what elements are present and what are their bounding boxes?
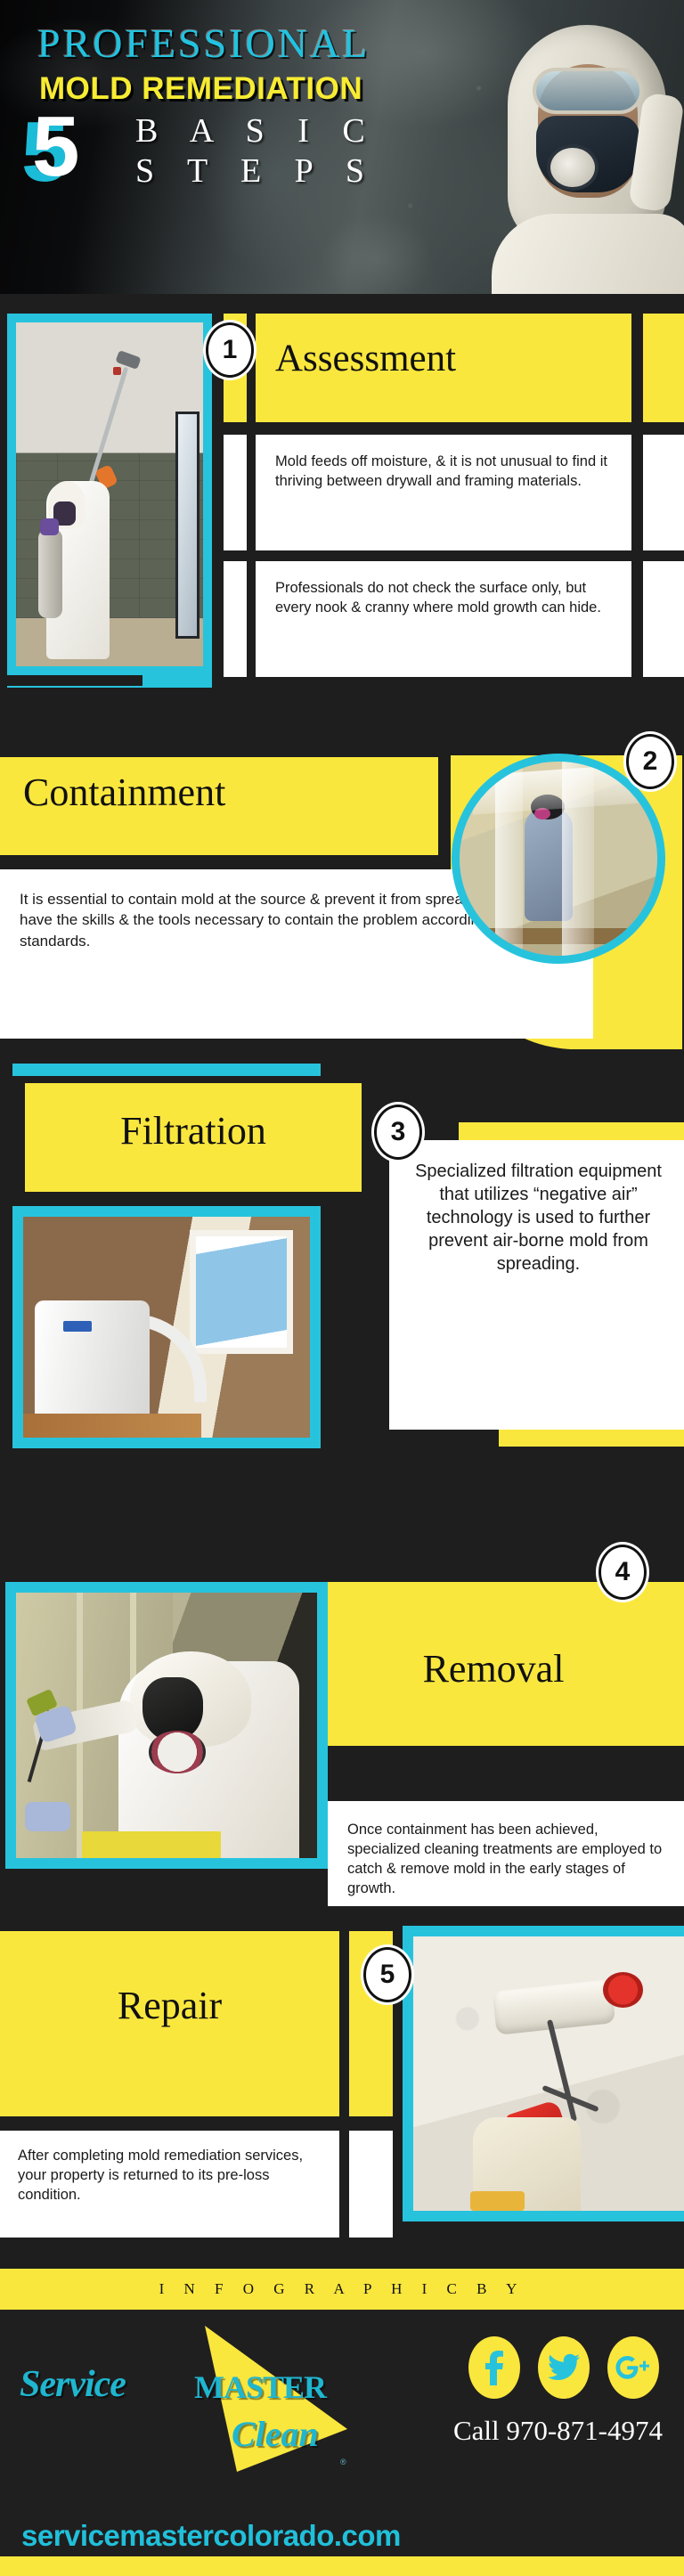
step-3-photo: [23, 1217, 310, 1438]
step-5-title-bar: Repair: [0, 1931, 339, 2116]
step-2-photo: [460, 762, 657, 956]
step-3-number-badge: 3: [374, 1105, 422, 1160]
website-url[interactable]: servicemastercolorado.com: [21, 2519, 401, 2553]
step-1-paragraph-1: Mold feeds off moisture, & it is not unu…: [256, 435, 631, 492]
step-3-filtration: Filtration Specialized filtration equipm…: [0, 1051, 684, 1505]
step-5-paragraph-accent: [349, 2131, 393, 2238]
step-3-title-bar: Filtration: [25, 1083, 362, 1192]
hero-number-five: 5 5: [27, 109, 134, 189]
google-plus-glyph: [615, 2353, 651, 2382]
step-5-paragraph-box: After completing mold remediation servic…: [0, 2131, 339, 2238]
step-1-photo: [16, 322, 203, 666]
hero-banner: PROFESSIONAL MOLD REMEDIATION 5 5 B A S …: [0, 0, 684, 294]
facebook-glyph: [481, 2350, 508, 2385]
social-links: [468, 2336, 659, 2399]
footer-bottom-bar: [0, 2556, 684, 2576]
step-1-title-bar: Assessment: [256, 314, 631, 422]
hero-line-professional: PROFESSIONAL: [37, 20, 370, 67]
step-3-paragraph-box: Specialized filtration equipment that ut…: [389, 1140, 684, 1430]
google-plus-icon[interactable]: [607, 2336, 659, 2399]
step-4-paragraph-1: Once containment has been achieved, spec…: [328, 1801, 684, 1899]
logo-text-clean: Clean: [232, 2413, 319, 2455]
infographic-credit-text: I N F O G R A P H I C B Y: [159, 2280, 525, 2298]
logo-text-master: MASTER: [194, 2368, 326, 2406]
logo-registered-mark: ®: [340, 2458, 346, 2466]
step-1-number-badge: 1: [206, 322, 254, 378]
footer: Service MASTER Clean ®: [0, 2310, 684, 2576]
step-3-paragraph-1: Specialized filtration equipment that ut…: [389, 1140, 684, 1276]
step-4-number-badge: 4: [598, 1545, 647, 1600]
step-5-number-badge: 5: [363, 1947, 411, 2002]
step-1-paragraph-2-box: Professionals do not check the surface o…: [256, 561, 631, 677]
step-2-number-badge: 2: [626, 734, 674, 789]
step-1-paragraph-1-box: Mold feeds off moisture, & it is not unu…: [256, 435, 631, 550]
servicemaster-logo[interactable]: Service MASTER Clean ®: [20, 2331, 376, 2482]
step-2-title-bar: Containment: [0, 757, 438, 855]
hero-line-basic: B A S I C: [135, 111, 378, 151]
hero-line-mold-remediation: MOLD REMEDIATION: [39, 71, 362, 107]
step-1-para-2-accent: [224, 561, 247, 677]
hero-line-steps: S T E P S: [135, 151, 377, 191]
hero-number-five-main: 5: [32, 109, 79, 185]
step-4-photo: [16, 1593, 317, 1858]
step-5-paragraph-1: After completing mold remediation servic…: [0, 2131, 339, 2205]
logo-text-service: Service: [20, 2363, 126, 2406]
step-4-title: Removal: [328, 1646, 659, 1692]
step-1-para-1-right-accent: [643, 435, 684, 550]
step-4-title-bar: Removal: [328, 1582, 684, 1746]
step-1-assessment: Assessment 1 Mold feeds off moisture, & …: [0, 294, 684, 748]
step-1-paragraph-2: Professionals do not check the surface o…: [256, 561, 631, 618]
step-1-frame-notch: [0, 675, 142, 686]
step-3-text-bottom-accent: [499, 1427, 684, 1447]
step-5-photo: [413, 1936, 684, 2211]
step-5-title: Repair: [0, 1983, 339, 2028]
logo-triangle-icon: [126, 2322, 349, 2491]
phone-number[interactable]: Call 970-871-4974: [453, 2415, 663, 2447]
twitter-glyph: [548, 2353, 580, 2382]
step-3-title: Filtration: [25, 1108, 362, 1153]
step-2-title: Containment: [23, 770, 225, 815]
step-1-para-2-right-accent: [643, 561, 684, 677]
facebook-icon[interactable]: [468, 2336, 520, 2399]
step-2-containment: Containment It is essential to contain m…: [0, 748, 684, 1051]
infographic-page: PROFESSIONAL MOLD REMEDIATION 5 5 B A S …: [0, 0, 684, 2576]
step-1-right-accent: [643, 314, 684, 422]
step-1-para-1-accent: [224, 435, 247, 550]
infographic-credit-bar: I N F O G R A P H I C B Y: [0, 2269, 684, 2310]
step-5-repair: Repair 5 After completing mold remediati…: [0, 1906, 684, 2262]
step-3-title-top-rail: [12, 1064, 321, 1076]
step-1-title: Assessment: [275, 337, 456, 380]
twitter-icon[interactable]: [538, 2336, 590, 2399]
step-4-removal: Removal 4 Once containment has been achi…: [0, 1505, 684, 1906]
